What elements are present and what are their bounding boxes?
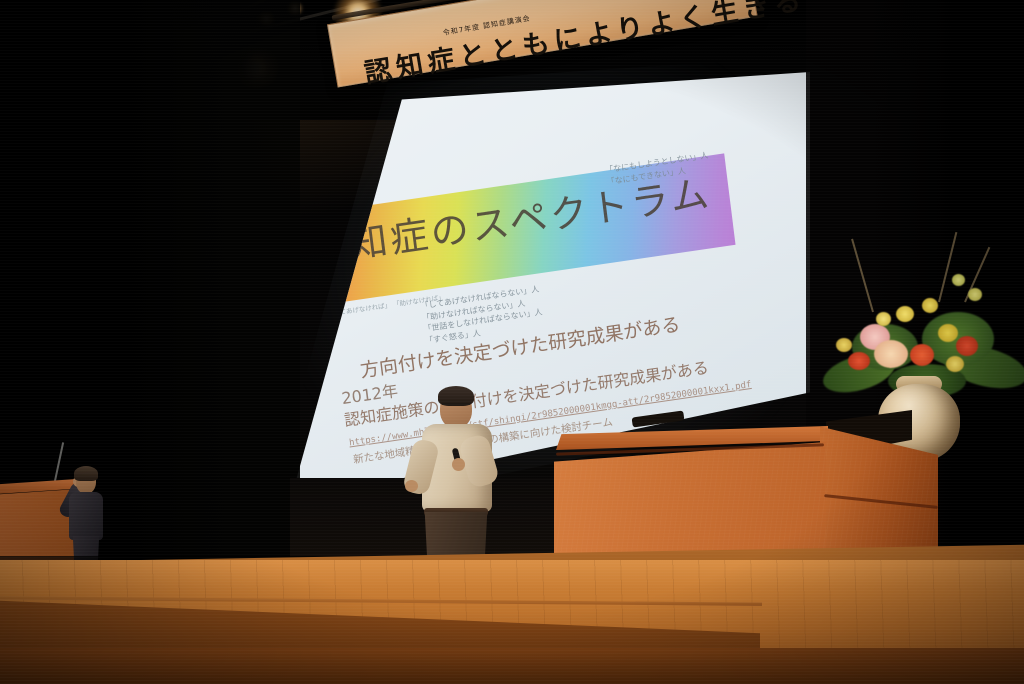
flower-bloom [910,344,934,366]
stage-front-edge [0,648,1024,684]
flower-bloom [876,312,891,326]
stage-photo-scene: 認知症のスペクトラム 「してあげなければ」 「助けなければ」 「してあげなければ… [0,0,1024,684]
interpreter-hair [74,466,98,481]
flower-bloom [956,336,978,356]
flower-bloom [874,340,908,368]
decorative-branch [851,239,874,313]
interpreter-torso [69,492,103,540]
flower-bloom [848,352,870,370]
flower-bloom [938,324,958,342]
glasses-icon [442,403,470,411]
decorative-branch [938,232,957,302]
flower-bloom [836,338,852,352]
flower-bloom [922,298,938,313]
flower-bloom [946,356,964,372]
flower-bloom [952,274,965,286]
presenter-hand-left [405,480,418,492]
flower-bloom [896,306,914,322]
flower-bloom [968,288,982,301]
presenter-hand-right [452,458,465,471]
podium-microphone [632,410,685,427]
